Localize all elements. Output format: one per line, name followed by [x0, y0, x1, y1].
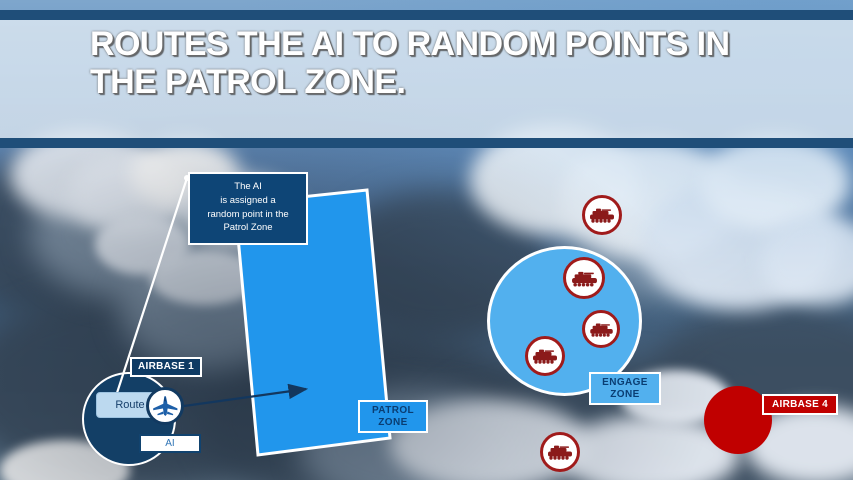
callout-box: The AI is assigned a random point in the… — [188, 172, 308, 245]
fighter-jet-icon — [152, 395, 178, 417]
tank-icon — [532, 348, 558, 364]
tank-icon — [571, 270, 598, 287]
airbase-4-label[interactable]: AIRBASE 4 — [762, 394, 838, 415]
airbase-1-label[interactable]: AIRBASE 1 — [130, 357, 202, 377]
patrol-zone-label[interactable]: PATROL ZONE — [358, 400, 428, 433]
ai-marker[interactable] — [146, 387, 184, 425]
enemy-marker-5[interactable] — [540, 432, 580, 472]
engage-zone-label[interactable]: ENGAGE ZONE — [589, 372, 661, 405]
ai-label[interactable]: AI — [139, 434, 201, 453]
slide-canvas: ROUTES THE AI TO RANDOM POINTS IN THE PA… — [0, 0, 853, 480]
enemy-marker-4[interactable] — [525, 336, 565, 376]
slide-title: ROUTES THE AI TO RANDOM POINTS IN THE PA… — [90, 25, 790, 102]
enemy-marker-2[interactable] — [563, 257, 605, 299]
enemy-marker-3[interactable] — [582, 310, 620, 348]
enemy-marker-1[interactable] — [582, 195, 622, 235]
tank-icon — [589, 322, 614, 337]
tank-icon — [547, 444, 573, 460]
tank-icon — [589, 207, 615, 223]
